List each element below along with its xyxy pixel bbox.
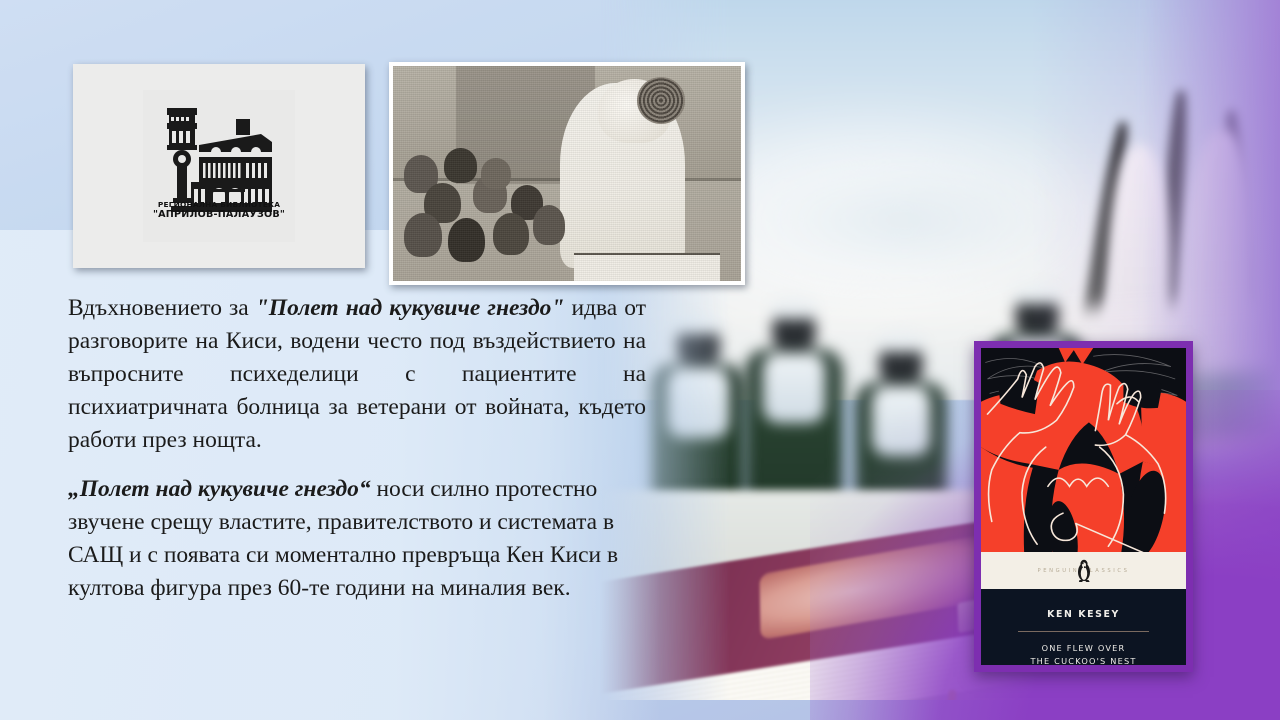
book-cover: PENGUIN CLASSICS KEN KESEY ONE FLEW OVER…	[974, 341, 1193, 672]
book-cover-artwork	[981, 348, 1186, 552]
paragraph-1: Вдъхновението за "Полет над кукувиче гне…	[68, 292, 646, 457]
library-logo-frame: РЕГИОНАЛНА БИБЛИОТЕКА "АПРИЛОВ-ПАЛАУЗОВ"	[73, 64, 365, 268]
photo-cloud	[740, 160, 1070, 280]
p1-lead: Вдъхновението за	[68, 295, 256, 321]
book-author: KEN KESEY	[981, 609, 1186, 620]
archive-photo-frame	[389, 62, 745, 285]
logo-caption-line2: "АПРИЛОВ-ПАЛАУЗОВ"	[143, 210, 295, 220]
book-title-line2: THE CUCKOO'S NEST	[981, 655, 1186, 665]
presentation-slide: РЕГИОНАЛНА БИБЛИОТЕКА "АПРИЛОВ-ПАЛАУЗОВ"	[0, 0, 1280, 720]
slide-body-text: Вдъхновението за "Полет над кукувиче гне…	[68, 292, 646, 621]
book-title-line1: ONE FLEW OVER	[981, 642, 1186, 655]
book-cover-text: KEN KESEY ONE FLEW OVER THE CUCKOO'S NES…	[981, 589, 1186, 665]
book-divider	[1018, 631, 1149, 632]
paragraph-2: „Полет над кукувиче гнездо“ носи силно п…	[68, 473, 646, 605]
archive-photo	[393, 66, 741, 281]
p2-quoted-title: „Полет над кукувиче гнездо“	[68, 476, 371, 502]
logo-caption-line1: РЕГИОНАЛНА БИБЛИОТЕКА	[143, 201, 295, 209]
penguin-logo-icon	[1075, 559, 1092, 583]
penguin-imprint-strip: PENGUIN CLASSICS	[981, 552, 1186, 588]
p1-quoted-title: "Полет над кукувиче гнездо"	[256, 295, 565, 321]
library-logo: РЕГИОНАЛНА БИБЛИОТЕКА "АПРИЛОВ-ПАЛАУЗОВ"	[143, 90, 295, 242]
